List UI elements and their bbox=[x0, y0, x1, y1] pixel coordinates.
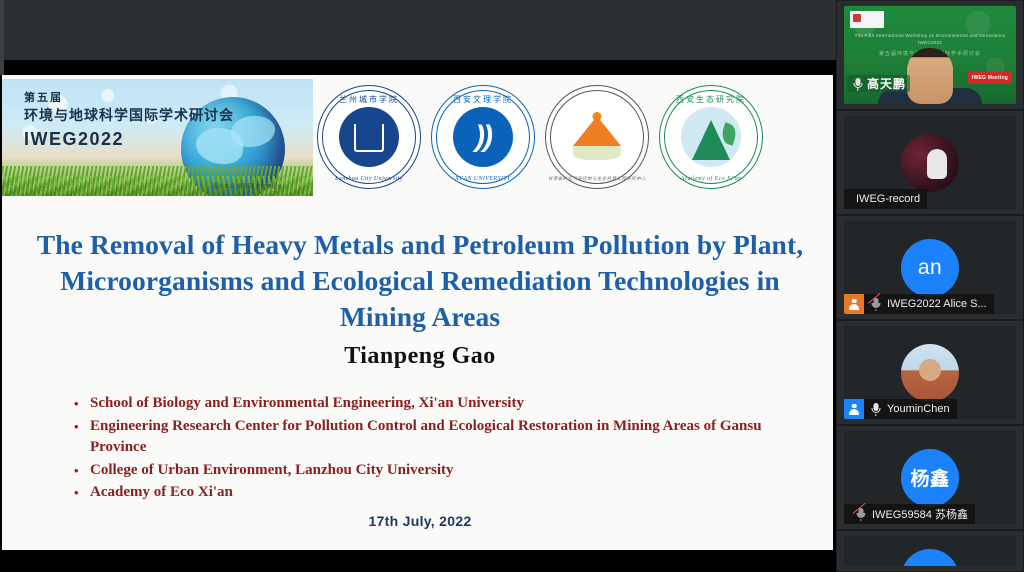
video-feed[interactable]: IWEG-record bbox=[844, 116, 1016, 209]
participant-name-strip: YouminChen bbox=[844, 399, 957, 419]
avatar bbox=[901, 344, 959, 402]
affiliation-text: School of Biology and Environmental Engi… bbox=[90, 393, 774, 415]
logo-chinese-name: 兰州城市学院 bbox=[339, 94, 399, 105]
logo-chinese-name: 西安生态研究院 bbox=[676, 94, 746, 105]
slide-title: The Removal of Heavy Metals and Petroleu… bbox=[30, 227, 810, 335]
participant-name-strip: IWEG-record bbox=[844, 189, 927, 209]
logo-chinese-name: 甘肃省矿区污染控制与生态修复工程研究中心 bbox=[548, 176, 646, 182]
avatar: an bbox=[901, 239, 959, 297]
participant-tile-iweg-record[interactable]: IWEG-record bbox=[836, 110, 1024, 215]
banner-text-block: 第五届 环境与地球科学国际学术研讨会 IWEG2022 bbox=[24, 91, 234, 151]
logo-chinese-name: 西安文理学院 bbox=[453, 94, 513, 105]
letterbox-top bbox=[0, 60, 836, 75]
mountain-icon bbox=[573, 116, 621, 146]
video-feed[interactable]: YouminChen bbox=[844, 326, 1016, 419]
microphone-muted-icon bbox=[854, 507, 867, 521]
banner-credit-text: 图片来源 摄图网 可商用图片 bbox=[213, 183, 283, 190]
mountain-sun-icon bbox=[569, 112, 625, 162]
window-top-chrome bbox=[0, 0, 836, 60]
banner-line-3: IWEG2022 bbox=[24, 127, 234, 151]
affiliation-list: • School of Biology and Environmental En… bbox=[74, 393, 774, 505]
microphone-muted-icon bbox=[869, 297, 882, 311]
wave-mark-icon: )) bbox=[475, 122, 491, 152]
shared-screen-stage[interactable]: 第五届 环境与地球科学国际学术研讨会 IWEG2022 图片来源 摄图网 可商用… bbox=[0, 75, 836, 551]
overlay-badge: IWEG Meeting bbox=[968, 72, 1012, 84]
window-left-edge bbox=[0, 0, 4, 75]
logo-core: )) bbox=[453, 107, 513, 167]
presentation-slide: 第五届 环境与地球科学国际学术研讨会 IWEG2022 图片来源 摄图网 可商用… bbox=[2, 75, 833, 550]
list-item: • College of Urban Environment, Lanzhou … bbox=[74, 460, 774, 482]
logo-english-name: Lanzhou City University bbox=[335, 176, 403, 182]
video-feed[interactable]: 杨鑫 IWEG59584 苏杨鑫 bbox=[844, 431, 1016, 524]
institution-logos-row: 兰州城市学院 Lanzhou City University 西安文理学院 ))… bbox=[317, 81, 777, 193]
virtual-background: The Fifth International Workshop on Envi… bbox=[844, 6, 1016, 104]
slide-author: Tianpeng Gao bbox=[30, 343, 810, 370]
speaker-head bbox=[907, 48, 953, 104]
bullet-glyph: • bbox=[74, 482, 82, 504]
overlay-title: The Fifth International Workshop on Envi… bbox=[852, 32, 1008, 46]
conference-banner-image: 第五届 环境与地球科学国际学术研讨会 IWEG2022 图片来源 摄图网 可商用… bbox=[2, 79, 313, 196]
video-feed[interactable]: The Fifth International Workshop on Envi… bbox=[844, 6, 1016, 104]
speaker-name-overlay: 高天鹏 bbox=[847, 75, 910, 92]
open-book-icon bbox=[354, 124, 384, 150]
video-feed[interactable]: an IWEG2022 Alice S... bbox=[844, 221, 1016, 314]
affiliation-text: Academy of Eco Xi'an bbox=[90, 482, 774, 504]
water-icon bbox=[573, 146, 621, 160]
participant-tile-iweg59584[interactable]: 杨鑫 IWEG59584 苏杨鑫 bbox=[836, 425, 1024, 530]
participant-name: YouminChen bbox=[887, 403, 950, 415]
microphone-icon bbox=[869, 402, 882, 416]
overlay-logo-icon bbox=[850, 11, 884, 28]
leaf-icon bbox=[719, 122, 738, 145]
microphone-icon bbox=[851, 77, 864, 91]
participant-video-rail[interactable]: The Fifth International Workshop on Envi… bbox=[836, 0, 1024, 572]
logo-core bbox=[681, 107, 741, 167]
bullet-glyph: • bbox=[74, 393, 82, 415]
list-item: • Academy of Eco Xi'an bbox=[74, 482, 774, 504]
participant-name: IWEG2022 Alice S... bbox=[887, 298, 987, 310]
slide-date: 17th July, 2022 bbox=[30, 513, 810, 529]
host-badge-icon bbox=[844, 399, 864, 419]
avatar: 杨鑫 bbox=[901, 449, 959, 507]
letterbox-bottom bbox=[0, 551, 836, 572]
host-badge-icon bbox=[844, 294, 864, 314]
banner-line-2: 环境与地球科学国际学术研讨会 bbox=[24, 106, 234, 125]
logo-english-name: Academy of Eco Xi'an bbox=[680, 176, 741, 182]
participant-name: 高天鹏 bbox=[867, 75, 906, 92]
logo-core bbox=[339, 107, 399, 167]
participant-tile-partial[interactable] bbox=[836, 530, 1024, 572]
xian-university-logo: 西安文理学院 )) XI'AN UNIVERSITY bbox=[431, 85, 535, 189]
participant-tile-iweg2022-alice[interactable]: an IWEG2022 Alice S... bbox=[836, 215, 1024, 320]
participant-name: IWEG-record bbox=[856, 193, 920, 205]
avatar bbox=[901, 549, 959, 566]
participant-name-strip: IWEG2022 Alice S... bbox=[844, 294, 994, 314]
logo-core bbox=[567, 107, 627, 167]
logo-english-name: XI'AN UNIVERSITY bbox=[455, 176, 511, 182]
banner-line-1: 第五届 bbox=[24, 91, 234, 106]
meeting-window: 第五届 环境与地球科学国际学术研讨会 IWEG2022 图片来源 摄图网 可商用… bbox=[0, 0, 1024, 572]
list-item: • Engineering Research Center for Pollut… bbox=[74, 416, 774, 459]
engineering-research-center-logo: 甘肃省矿区污染控制与生态修复工程研究中心 bbox=[545, 85, 649, 189]
participant-tile-gao-tianpeng[interactable]: The Fifth International Workshop on Envi… bbox=[836, 0, 1024, 110]
bullet-glyph: • bbox=[74, 416, 82, 459]
affiliation-text: College of Urban Environment, Lanzhou Ci… bbox=[90, 460, 774, 482]
affiliation-text: Engineering Research Center for Pollutio… bbox=[90, 416, 774, 459]
participant-name: IWEG59584 苏杨鑫 bbox=[872, 506, 968, 522]
avatar bbox=[901, 134, 959, 192]
bullet-glyph: • bbox=[74, 460, 82, 482]
participant-tile-youminchen[interactable]: YouminChen bbox=[836, 320, 1024, 425]
participant-name-strip: IWEG59584 苏杨鑫 bbox=[844, 504, 975, 524]
academy-of-eco-xian-logo: 西安生态研究院 Academy of Eco Xi'an bbox=[659, 85, 763, 189]
video-feed[interactable] bbox=[844, 536, 1016, 566]
lanzhou-city-university-logo: 兰州城市学院 Lanzhou City University bbox=[317, 85, 421, 189]
list-item: • School of Biology and Environmental En… bbox=[74, 393, 774, 415]
pagoda-icon bbox=[688, 114, 734, 160]
